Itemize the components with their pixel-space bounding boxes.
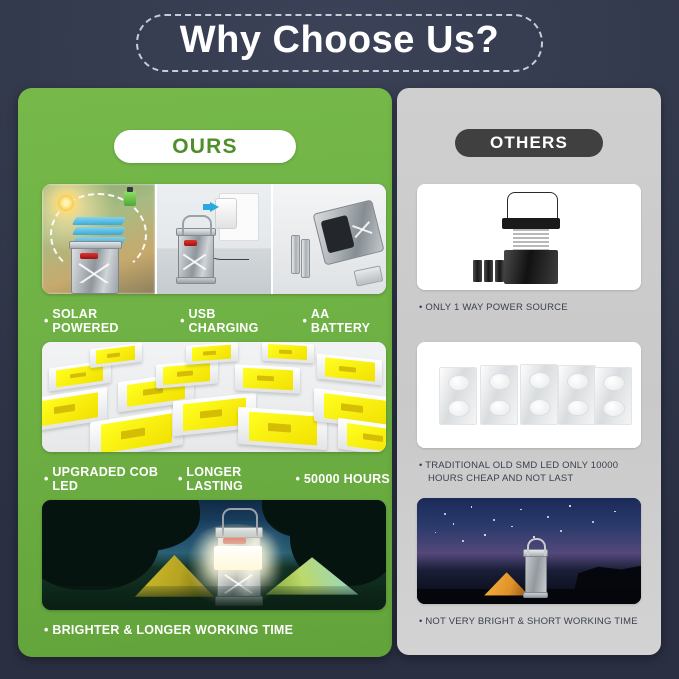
solar-panel-illustration (42, 184, 155, 294)
smd-module (594, 367, 632, 424)
title-container: Why Choose Us? (0, 14, 679, 72)
title-dashed-border: Why Choose Us? (136, 14, 543, 72)
caption-solar: SOLAR POWERED (52, 307, 164, 335)
sun-icon (58, 195, 74, 211)
lantern-solar (71, 246, 116, 292)
battery-icon (473, 260, 482, 281)
caption-brighter: BRIGHTER & LONGER WORKING TIME (52, 623, 293, 637)
others-caption-3-text: NOT VERY BRIGHT & SHORT WORKING TIME (425, 616, 637, 627)
others-caption-2-text: TRADITIONAL OLD SMD LED ONLY 10000 HOURS… (425, 460, 618, 484)
ours-badge: OURS (114, 130, 296, 163)
caption-hours-unit: HOURS (344, 472, 390, 486)
smd-led-strip (417, 342, 641, 448)
lantern-usb (178, 232, 212, 280)
others-caption-3: • NOT VERY BRIGHT & SHORT WORKING TIME (419, 616, 656, 629)
lantern-top-cap (502, 218, 560, 229)
infographic-root: Why Choose Us? OURS (0, 0, 679, 679)
smd-module (558, 365, 596, 424)
battery-icon (484, 260, 493, 281)
others-badge: OTHERS (455, 129, 603, 157)
lantern-body (504, 250, 558, 284)
others-caption-1: • ONLY 1 WAY POWER SOURCE (419, 302, 656, 315)
caption-longer-lasting: LONGER LASTING (186, 465, 282, 493)
cob-chip (338, 418, 386, 452)
ours-panel: OURS (18, 88, 392, 657)
aa-battery-icon (291, 235, 300, 274)
caption-cob-led: UPGRADED COB LED (52, 465, 164, 493)
others-panel: OTHERS • ONLY 1 WAY POWER SOURCE (397, 88, 661, 655)
ours-caption-row-2: • UPGRADED COB LED • LONGER LASTING • 50… (44, 465, 390, 493)
cob-chip (262, 342, 314, 363)
others-badge-row: OTHERS (397, 129, 661, 157)
arrow-icon (210, 202, 219, 212)
ours-caption-row-3: • BRIGHTER & LONGER WORKING TIME (44, 623, 390, 637)
cob-chip (186, 342, 238, 364)
plug-icon (124, 191, 136, 206)
lantern-coil (513, 229, 549, 252)
smd-module (520, 364, 558, 424)
lantern-dim (525, 553, 545, 595)
ours-caption-row-1: • SOLAR POWERED • USB CHARGING • AA BATT… (44, 307, 390, 335)
smd-module (480, 365, 518, 424)
night-sky-dim-lantern (417, 498, 641, 604)
caption-battery: AA BATTERY (311, 307, 390, 335)
lantern-led-light (214, 546, 262, 570)
usb-charging-illustration (157, 184, 270, 294)
cob-led-array (42, 342, 386, 452)
aa-battery-illustration (273, 184, 386, 294)
others-caption-1-text: ONLY 1 WAY POWER SOURCE (425, 302, 567, 313)
ours-badge-row: OURS (18, 130, 392, 163)
caption-usb: USB CHARGING (188, 307, 286, 335)
caption-hours-number: 50000 (304, 472, 340, 486)
lantern-handle (507, 192, 558, 221)
aa-battery-icon (301, 239, 310, 278)
usb-adapter-icon (215, 198, 236, 229)
smd-module (439, 367, 477, 424)
page-title: Why Choose Us? (180, 21, 499, 61)
battery-icon (495, 260, 504, 281)
others-caption-2: • TRADITIONAL OLD SMD LED ONLY 10000 HOU… (419, 460, 656, 486)
campsite-bright-lantern (42, 500, 386, 610)
charging-methods-triptych (42, 184, 386, 294)
cob-chip (235, 364, 300, 394)
black-lantern-with-batteries (417, 184, 641, 290)
